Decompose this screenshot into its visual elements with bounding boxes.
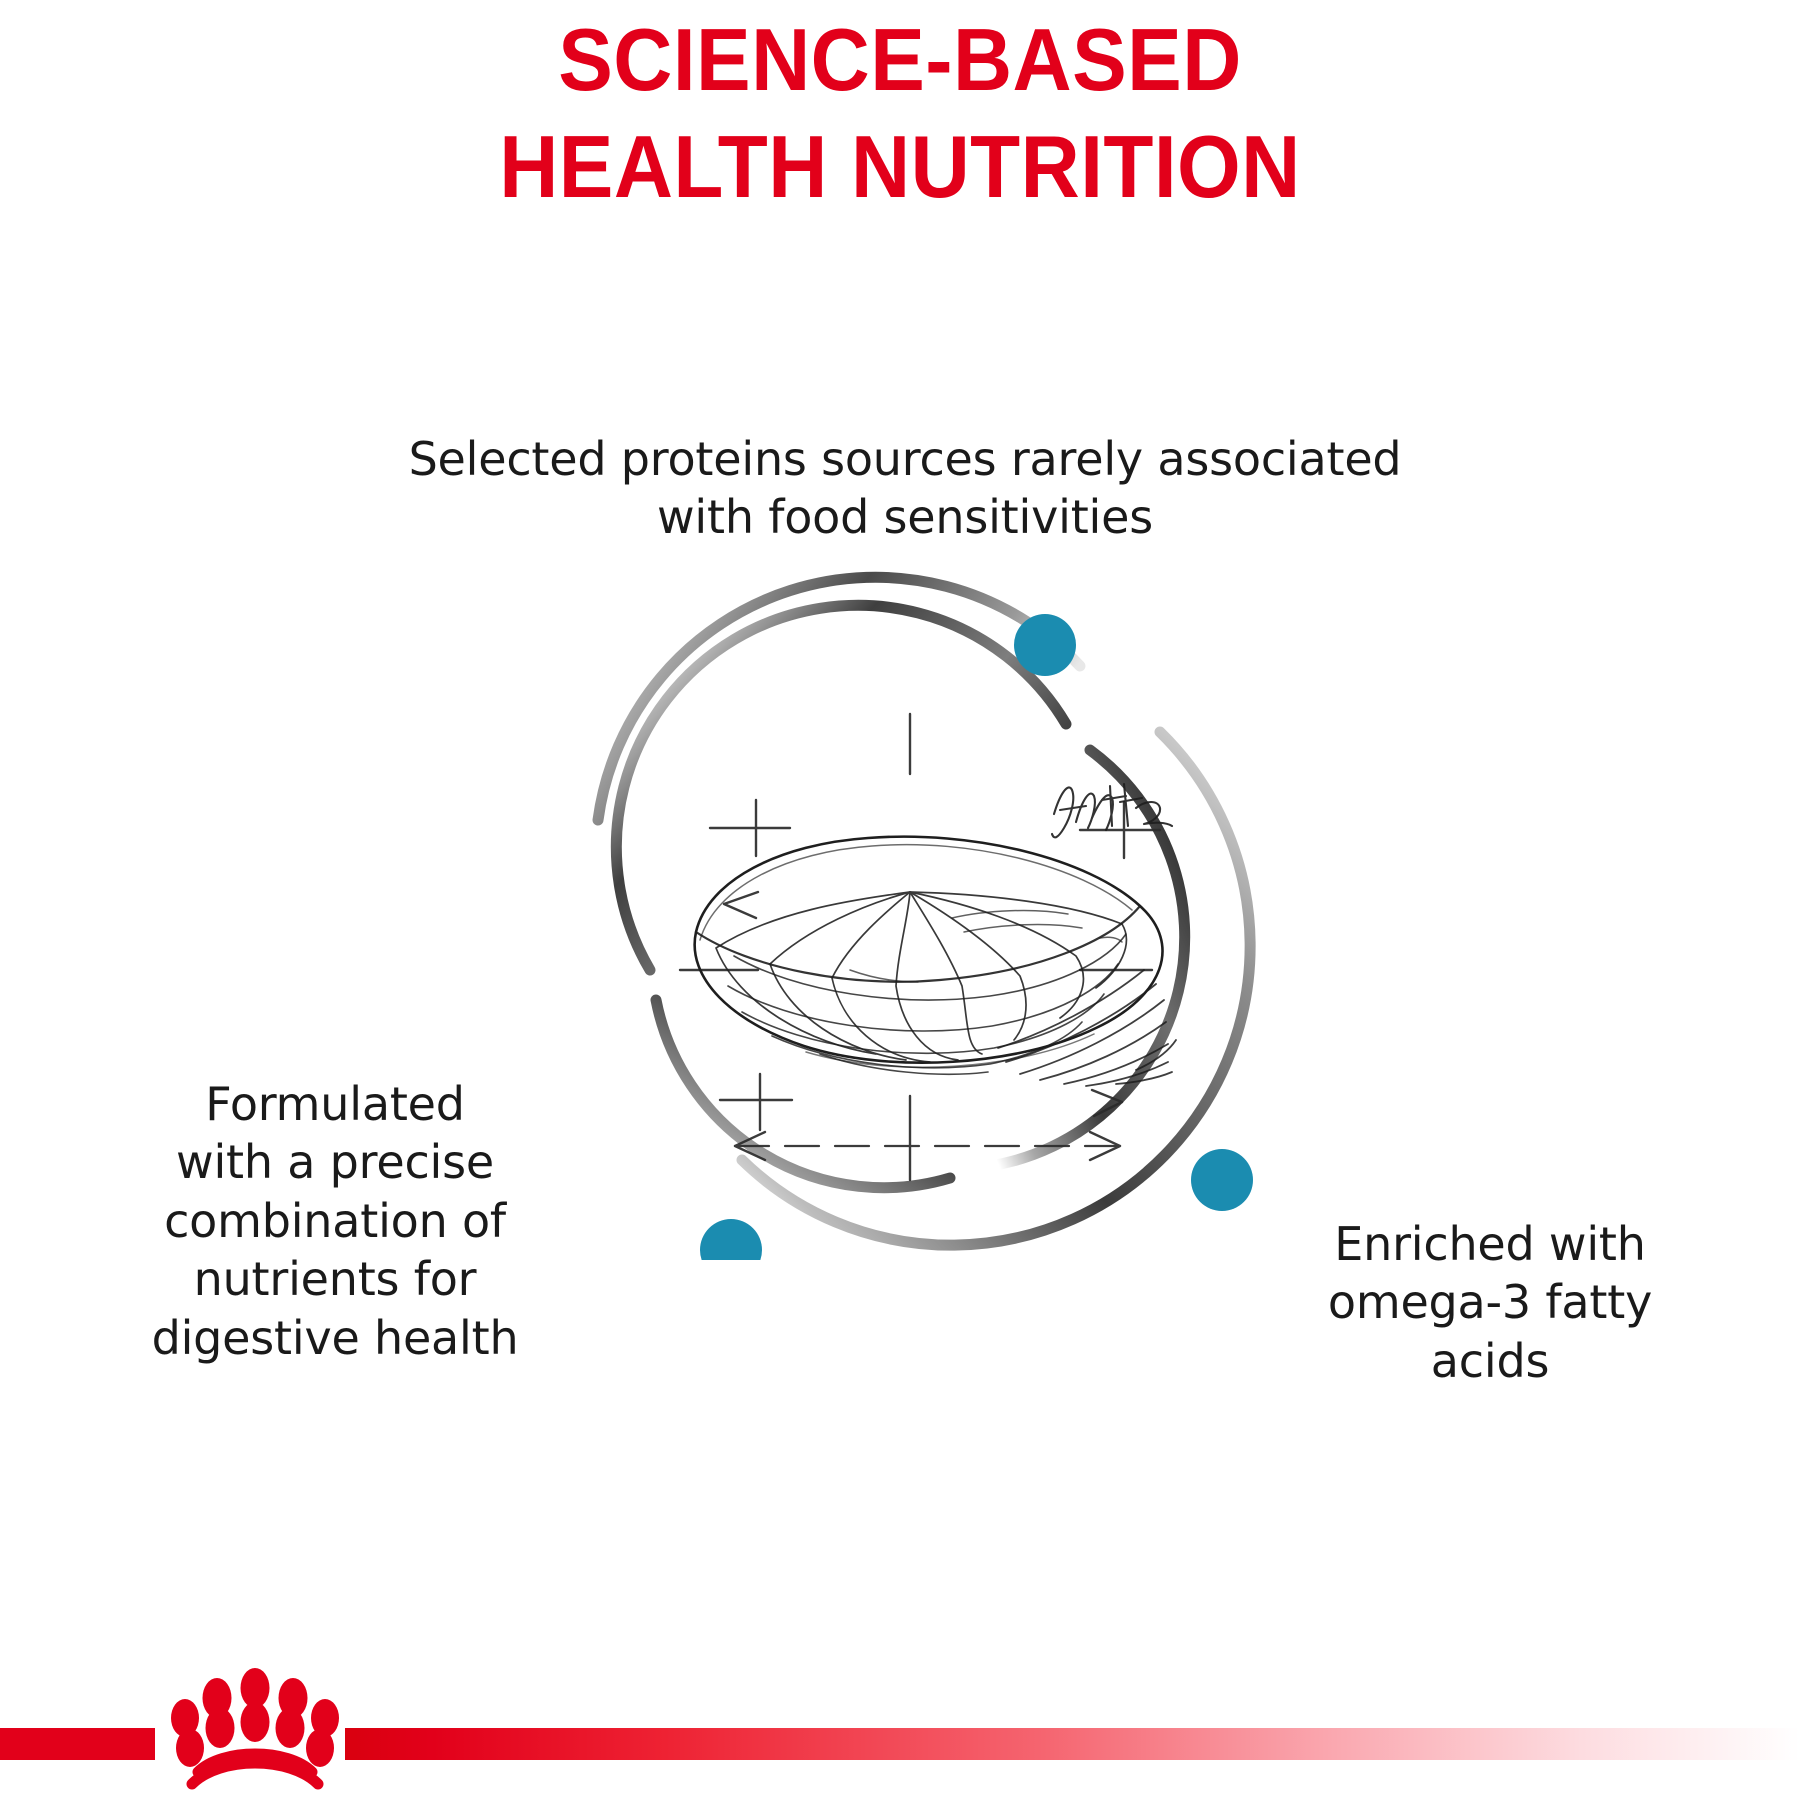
inner-ring-arc-right — [990, 750, 1185, 1166]
marker-dot-right — [1191, 1149, 1253, 1211]
inner-ring-arc-bottom — [656, 1000, 950, 1188]
footer-bar-right — [345, 1728, 1800, 1760]
marker-dot-top — [1014, 614, 1076, 676]
footer — [0, 1640, 1800, 1800]
promo-panel: SCIENCE-BASED HEALTH NUTRITION Selected … — [0, 0, 1800, 1800]
headline-line-2: HEALTH NUTRITION — [63, 113, 1737, 220]
footer-bar-left — [0, 1728, 155, 1760]
technical-construction-marks — [680, 714, 1160, 1180]
headline-line-1: SCIENCE-BASED — [63, 6, 1737, 113]
marker-dot-left — [700, 1219, 762, 1260]
feature-text-omega-3: Enriched with omega-3 fatty acids — [1255, 1215, 1725, 1390]
feature-line: acids — [1255, 1332, 1725, 1390]
kibble-sketch — [695, 837, 1176, 1086]
feature-line: Formulated — [100, 1075, 570, 1133]
kibble-sketch-graphic — [520, 500, 1280, 1260]
inner-ring — [616, 605, 1184, 1187]
kibble-latitude-lines — [728, 934, 1126, 1074]
feature-line: omega-3 fatty — [1255, 1273, 1725, 1331]
feature-line: digestive health — [100, 1309, 570, 1367]
outer-ring — [598, 577, 1250, 1245]
feature-line: combination of — [100, 1192, 570, 1250]
feature-line: Selected proteins sources rarely associa… — [400, 430, 1410, 488]
kibble-outline — [695, 837, 1163, 1063]
crown-arcs — [192, 1754, 318, 1784]
feature-text-nutrient-combination: Formulated with a precise combination of… — [100, 1075, 570, 1367]
feature-line: with a precise — [100, 1133, 570, 1191]
feature-line: nutrients for — [100, 1250, 570, 1308]
royal-canin-crown-logo — [140, 1660, 370, 1790]
feature-line: Enriched with — [1255, 1215, 1725, 1273]
page-title: SCIENCE-BASED HEALTH NUTRITION — [63, 6, 1737, 221]
